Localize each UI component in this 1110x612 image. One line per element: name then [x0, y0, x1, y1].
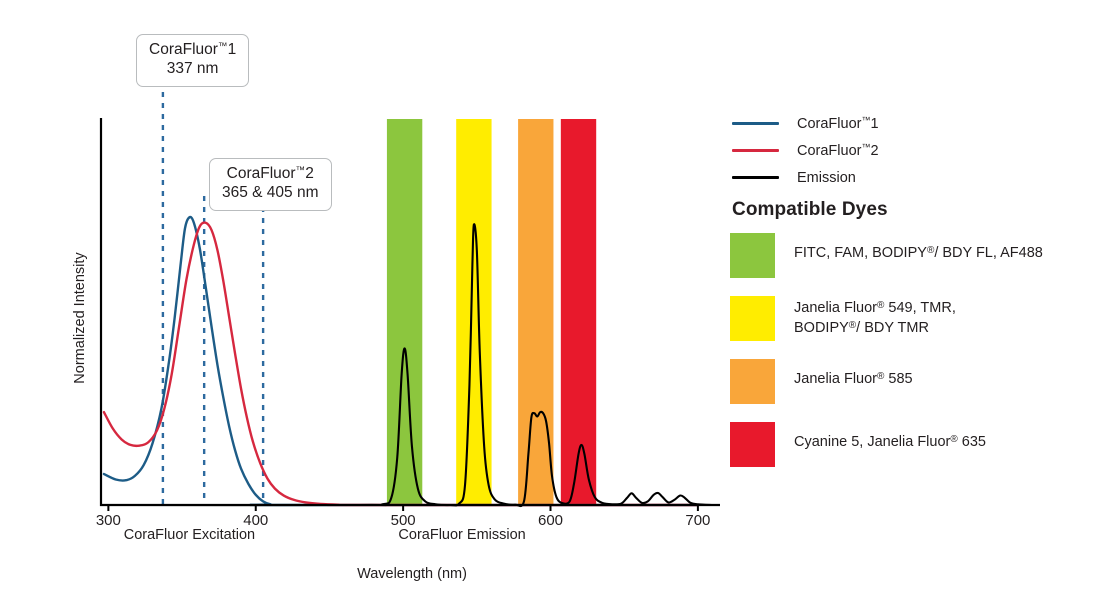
emission-band-yellow [456, 119, 491, 505]
legend-item-CoraFluor2[interactable]: CoraFluor™2 [732, 137, 879, 164]
registered-symbol: ® [877, 300, 884, 311]
x-axis-title: Wavelength (nm) [357, 566, 467, 582]
callout-corafluor2: CoraFluor™2 365 & 405 nm [209, 158, 332, 211]
dye-label-line: Cyanine 5, Janelia Fluor® 635 [794, 433, 986, 453]
x-tick-label-300: 300 [96, 512, 121, 529]
dye-color-swatch [730, 296, 775, 341]
emission-range-label: CoraFluor Emission [398, 527, 525, 543]
callout-corafluor1: CoraFluor™1 337 nm [136, 34, 249, 87]
legend-panel: CoraFluor™1CoraFluor™2Emission Compatibl… [730, 0, 1110, 612]
legend-item-CoraFluor1[interactable]: CoraFluor™1 [732, 110, 879, 137]
dye-label-line: BODIPY®/ BDY TMR [794, 319, 956, 339]
emission-band-green [387, 119, 422, 505]
dye-label: Janelia Fluor® 585 [794, 359, 913, 390]
dye-label-line: Janelia Fluor® 549, TMR, [794, 299, 956, 319]
x-tick-label-700: 700 [685, 512, 710, 529]
dye-color-swatch [730, 359, 775, 404]
trademark-symbol: ™ [861, 142, 870, 152]
emission-band-red [561, 119, 596, 505]
dye-color-swatch [730, 233, 775, 278]
x-tick-label-600: 600 [538, 512, 563, 529]
callout-corafluor1-line2: 337 nm [149, 60, 236, 79]
dye-color-swatch [730, 422, 775, 467]
dye-row[interactable]: Janelia Fluor® 549, TMR,BODIPY®/ BDY TMR [730, 296, 1110, 341]
series-legend: CoraFluor™1CoraFluor™2Emission [732, 110, 879, 191]
callout-corafluor2-line1: CoraFluor™2 [222, 165, 319, 184]
spectra-chart: CoraFluor™1 337 nm CoraFluor™2 365 & 405… [0, 0, 730, 612]
dye-row[interactable]: Cyanine 5, Janelia Fluor® 635 [730, 422, 1110, 467]
legend-line-swatch [732, 176, 779, 179]
registered-symbol: ® [950, 434, 957, 445]
registered-symbol: ® [849, 320, 856, 331]
registered-symbol: ® [927, 245, 934, 256]
legend-item-label: CoraFluor™2 [797, 142, 879, 159]
dye-row[interactable]: Janelia Fluor® 585 [730, 359, 1110, 404]
dye-label: Janelia Fluor® 549, TMR,BODIPY®/ BDY TMR [794, 296, 956, 338]
excitation-range-label: CoraFluor Excitation [124, 527, 255, 543]
dye-label: FITC, FAM, BODIPY®/ BDY FL, AF488 [794, 233, 1043, 264]
dye-label: Cyanine 5, Janelia Fluor® 635 [794, 422, 986, 453]
dye-row[interactable]: FITC, FAM, BODIPY®/ BDY FL, AF488 [730, 233, 1110, 278]
legend-line-swatch [732, 122, 779, 125]
compatible-dyes-heading: Compatible Dyes [732, 199, 888, 221]
callout-corafluor1-line1: CoraFluor™1 [149, 41, 236, 60]
callout-corafluor2-line2: 365 & 405 nm [222, 184, 319, 203]
registered-symbol: ® [877, 371, 884, 382]
legend-item-label: CoraFluor™1 [797, 115, 879, 132]
trademark-symbol: ™ [861, 115, 870, 125]
emission-band-orange [518, 119, 553, 505]
legend-item-label: Emission [797, 170, 856, 186]
dye-label-line: Janelia Fluor® 585 [794, 370, 913, 390]
compatible-dyes-list: FITC, FAM, BODIPY®/ BDY FL, AF488Janelia… [730, 233, 1110, 485]
y-axis-title: Normalized Intensity [72, 218, 88, 418]
dye-label-line: FITC, FAM, BODIPY®/ BDY FL, AF488 [794, 244, 1043, 264]
legend-line-swatch [732, 149, 779, 152]
legend-item-Emission[interactable]: Emission [732, 164, 879, 191]
